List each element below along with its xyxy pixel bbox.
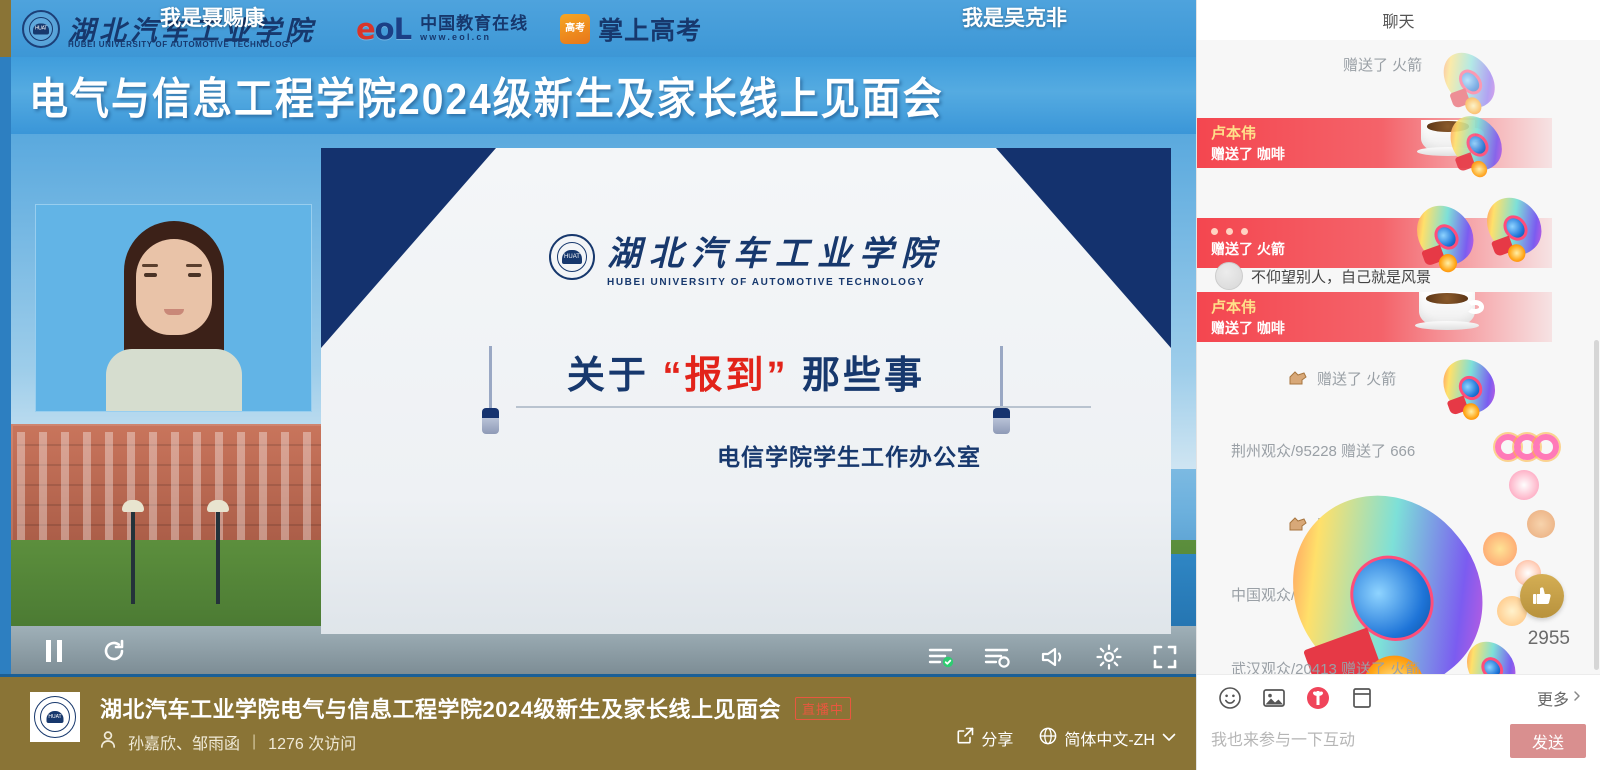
channel-logo: HUAT	[30, 692, 80, 742]
chat-message-text: 不仰望别人，自己就是风景	[1251, 266, 1431, 287]
chat-scrollbar[interactable]	[1594, 340, 1599, 670]
video-stage[interactable]: HUAT 湖北汽车工业学院 HUBEI UNIVERSITY OF AUTOMO…	[11, 134, 1196, 674]
slide-title: 关于 “报到” 那些事	[321, 344, 1171, 399]
slide-logo-en: HUBEI UNIVERSITY OF AUTOMOTIVE TECHNOLOG…	[607, 277, 943, 288]
thumb-burst-icon	[1527, 510, 1555, 538]
gaokao-badge-icon: 高考	[560, 14, 590, 44]
share-button[interactable]: 分享	[957, 726, 1013, 750]
live-stream-page: HUAT 湖北汽车工业学院 HUBEI UNIVERSITY OF AUTOMO…	[0, 0, 1600, 770]
background-lamp	[216, 509, 220, 604]
list-item: 赠送了 火箭	[1287, 368, 1396, 389]
gift-banner: 赠送了 火箭	[1197, 218, 1552, 268]
eol-name: 中国教育在线	[420, 15, 528, 33]
chat-input-row: 发送	[1197, 720, 1600, 770]
language-selector[interactable]: 简体中文-ZH	[1039, 726, 1176, 750]
list-item: 赠送了	[1287, 514, 1362, 535]
chat-message-text: 赠送了	[1317, 514, 1362, 535]
rocket-gift-icon	[1445, 358, 1493, 414]
quality-icon[interactable]	[982, 642, 1012, 672]
list-item: 赠送了 火箭	[1343, 54, 1422, 75]
chat-message-text: 赠送了 火箭	[1317, 368, 1396, 389]
danmaku-comment: 我是聂赐康	[160, 2, 265, 32]
gaokao-logo: 高考 掌上高考	[560, 11, 702, 47]
slide-subtitle: 电信学院学生工作办公室	[717, 438, 981, 472]
list-item: 不仰望别人，自己就是风景	[1215, 262, 1431, 290]
list-item: 武汉观众/20413 赠送了 火箭	[1231, 658, 1420, 674]
chat-column: 聊天 赠送了 火箭 卢本伟 赠送了 咖啡 赠送了	[1196, 0, 1600, 770]
gift-sender-name: 卢本伟	[1211, 297, 1552, 318]
rocket-gift-icon	[1447, 50, 1491, 110]
emoji-burst-icon	[1509, 470, 1539, 500]
chevron-right-icon	[1572, 689, 1582, 707]
background-building	[11, 424, 341, 554]
left-edge-strip	[0, 0, 11, 57]
view-count: 1276 次访问	[268, 730, 356, 754]
rocket-gift-icon	[1469, 640, 1513, 674]
gift-thumb-icon	[1287, 515, 1309, 535]
chat-message-text: 赠送了 火箭	[1343, 54, 1422, 75]
list-item: 中国观众/2	[1231, 584, 1304, 605]
slide-university-logo: HUAT 湖北汽车工业学院 HUBEI UNIVERSITY OF AUTOMO…	[321, 226, 1171, 288]
stream-actions: 分享 简体中文-ZH	[957, 726, 1176, 750]
eol-url: www.eol.cn	[420, 33, 528, 42]
stream-title: 湖北汽车工业学院电气与信息工程学院2024级新生及家长线上见面会直播中	[100, 692, 851, 724]
presenter-names: 孙嘉欣、邹雨函	[128, 730, 240, 754]
live-status-badge: 直播中	[795, 697, 851, 720]
quality-checked-icon[interactable]	[926, 642, 956, 672]
player-controls-right	[926, 642, 1180, 672]
player-column: HUAT 湖北汽车工业学院 HUBEI UNIVERSITY OF AUTOMO…	[0, 0, 1196, 770]
player-controls-left	[39, 636, 129, 666]
gear-icon[interactable]	[1094, 642, 1124, 672]
gift-banner: 卢本伟 赠送了 咖啡	[1197, 118, 1552, 168]
eol-text: 中国教育在线 www.eol.cn	[420, 15, 528, 42]
more-button[interactable]: 更多	[1537, 686, 1582, 710]
emoji-burst-icon	[1483, 532, 1517, 566]
gift-action-text: 赠送了 火箭	[1211, 239, 1552, 259]
event-banner-title: 电气与信息工程学院2024级新生及家长线上见面会	[29, 64, 944, 127]
huat-seal-text: HUAT	[33, 23, 49, 34]
presentation-slide: HUAT 湖北汽车工业学院 HUBEI UNIVERSITY OF AUTOMO…	[321, 148, 1171, 634]
gift-thumb-icon	[1287, 369, 1309, 389]
globe-icon	[1039, 727, 1057, 750]
chat-panel-title: 聊天	[1197, 0, 1600, 40]
gaokao-name: 掌上高考	[598, 11, 702, 47]
person-icon	[100, 731, 116, 753]
share-label: 分享	[981, 726, 1013, 750]
gift-action-text: 赠送了 咖啡	[1211, 318, 1552, 338]
stream-title-text: 湖北汽车工业学院电气与信息工程学院2024级新生及家长线上见面会	[100, 697, 781, 722]
channel-seal-text: HUAT	[47, 711, 64, 723]
stream-meta: 孙嘉欣、邹雨函 | 1276 次访问	[100, 730, 356, 754]
slide-seal-text: HUAT	[562, 250, 582, 264]
huat-name-en: HUBEI UNIVERSITY OF AUTOMOTIVE TECHNOLOG…	[68, 40, 295, 49]
share-icon	[957, 727, 974, 749]
chat-message-list[interactable]: 赠送了 火箭 卢本伟 赠送了 咖啡 赠送了 火箭	[1197, 40, 1600, 674]
chat-message-text: 中国观众/2	[1231, 584, 1304, 605]
like-count: 2955	[1528, 628, 1570, 650]
chat-message-text: 荆州观众/95228 赠送了 666	[1231, 440, 1415, 461]
presenter-avatar	[78, 221, 270, 412]
gift-action-text: 赠送了 咖啡	[1211, 144, 1552, 164]
image-icon[interactable]	[1259, 683, 1289, 713]
language-label: 简体中文-ZH	[1064, 726, 1155, 750]
more-label: 更多	[1537, 686, 1569, 710]
background-lamp	[131, 509, 135, 604]
eol-mark-icon: eoL	[356, 12, 411, 46]
avatar	[1215, 262, 1243, 290]
gift-icon[interactable]	[1303, 683, 1333, 713]
meta-separator: |	[252, 733, 256, 751]
presenter-webcam[interactable]	[35, 204, 312, 412]
fullscreen-icon[interactable]	[1150, 642, 1180, 672]
list-item: 荆州观众/95228 赠送了 666	[1231, 440, 1415, 461]
slide-title-highlight: “报到”	[662, 355, 788, 397]
gift-banner: 卢本伟 赠送了 咖啡	[1197, 292, 1552, 342]
slide-divider	[516, 406, 1091, 408]
volume-icon[interactable]	[1038, 642, 1068, 672]
loading-dots-icon	[1211, 223, 1552, 235]
event-banner: 电气与信息工程学院2024级新生及家长线上见面会	[11, 57, 1196, 134]
replay-icon[interactable]	[99, 636, 129, 666]
pause-icon[interactable]	[39, 636, 69, 666]
six-six-six-gift-icon	[1495, 434, 1559, 460]
like-button[interactable]	[1520, 574, 1564, 618]
slide-logo-cn: 湖北汽车工业学院	[607, 226, 943, 275]
stream-info-bar: HUAT 湖北汽车工业学院电气与信息工程学院2024级新生及家长线上见面会直播中…	[0, 674, 1196, 770]
info-bar-topline	[0, 674, 1196, 677]
chevron-down-icon	[1162, 729, 1176, 747]
chat-message-text: 武汉观众/20413 赠送了 火箭	[1231, 658, 1420, 674]
channel-seal-icon: HUAT	[34, 696, 76, 738]
chat-input[interactable]	[1211, 723, 1500, 759]
gift-sender-name: 卢本伟	[1211, 123, 1552, 144]
huat-seal-icon: HUAT	[22, 10, 60, 48]
slide-title-post: 那些事	[789, 355, 926, 397]
emoji-icon[interactable]	[1215, 683, 1245, 713]
thumbs-up-icon	[1530, 584, 1554, 608]
danmaku-comment: 我是吴克非	[962, 2, 1067, 32]
note-icon[interactable]	[1347, 683, 1377, 713]
slide-seal-icon: HUAT	[549, 234, 595, 280]
eol-logo: eoL 中国教育在线 www.eol.cn	[356, 12, 528, 46]
chat-toolbar: 更多	[1197, 674, 1600, 720]
send-button[interactable]: 发送	[1510, 724, 1586, 758]
slide-title-pre: 关于	[567, 355, 663, 397]
